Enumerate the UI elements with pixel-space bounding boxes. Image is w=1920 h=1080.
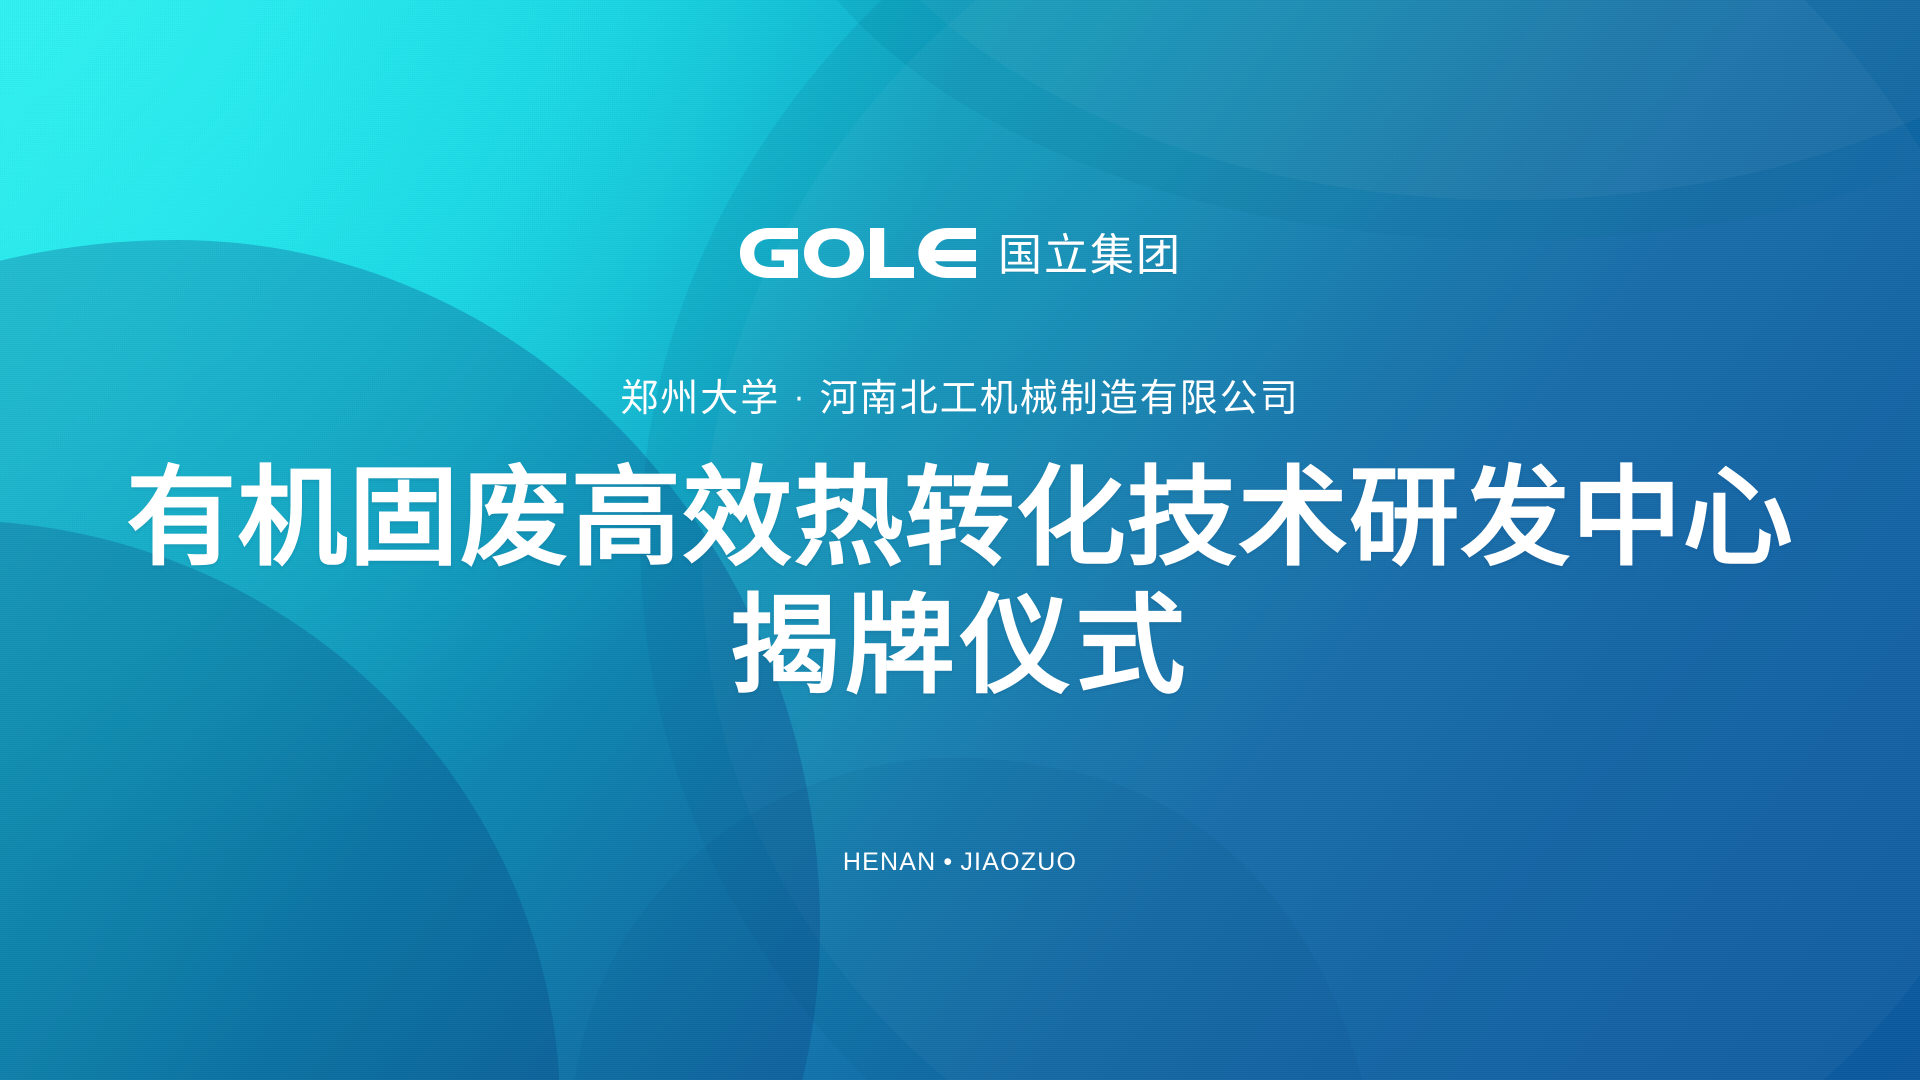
subtitle-line: 郑州大学·河南北工机械制造有限公司 — [0, 378, 1920, 420]
location-footer: HENAN•JIAOZUO — [0, 848, 1920, 877]
footer-right: JIAOZUO — [960, 848, 1077, 876]
page-title-line-1: 有机固废高效热转化技术研发中心 — [0, 456, 1920, 582]
footer-left: HENAN — [843, 848, 937, 876]
footer-separator-dot: • — [936, 848, 960, 876]
subtitle-left: 郑州大学 — [620, 376, 780, 420]
page-title-line-2: 揭牌仪式 — [0, 582, 1920, 712]
subtitle-separator-dot: · — [780, 382, 820, 417]
page-title: 有机固废高效热转化技术研发中心 揭牌仪式 — [0, 456, 1920, 712]
gole-wordmark-icon — [738, 228, 976, 283]
brand-logo-chinese-label: 国立集团 — [998, 234, 1182, 278]
brand-logo: 国立集团 — [0, 228, 1920, 283]
subtitle-right: 河南北工机械制造有限公司 — [820, 376, 1300, 420]
presentation-slide: 国立集团 郑州大学·河南北工机械制造有限公司 有机固废高效热转化技术研发中心 揭… — [0, 0, 1920, 1080]
slide-content: 国立集团 郑州大学·河南北工机械制造有限公司 有机固废高效热转化技术研发中心 揭… — [0, 0, 1920, 1080]
